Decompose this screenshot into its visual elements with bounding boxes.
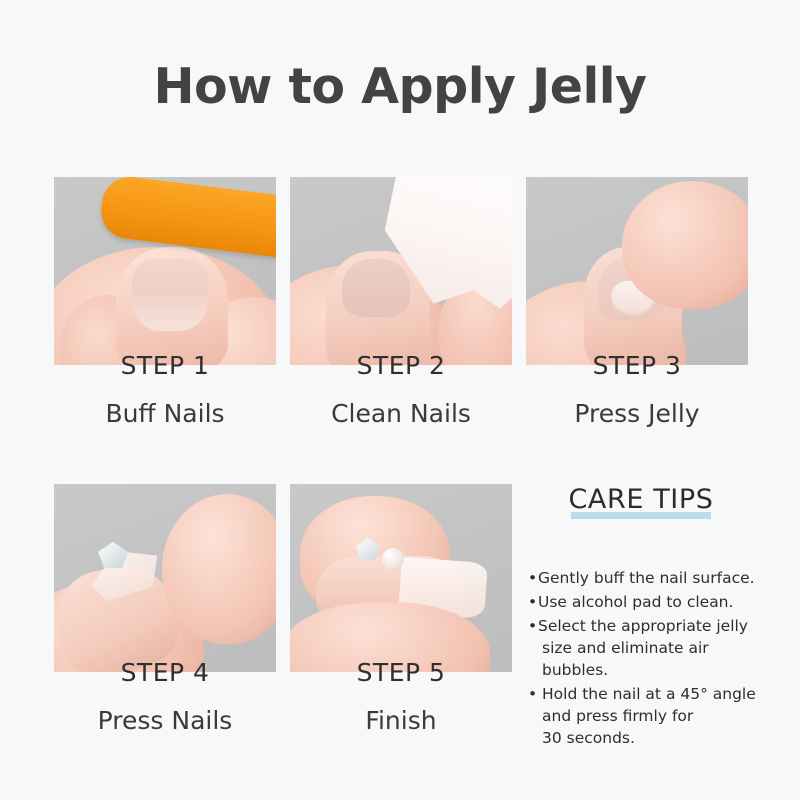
- care-tip-item: • Hold the nail at a 45° angle and press…: [528, 683, 778, 749]
- step-1-label: STEP 1: [54, 351, 276, 380]
- bullet-icon: •: [528, 591, 538, 613]
- care-tip-line: size and eliminate air bubbles.: [538, 637, 778, 681]
- steps-row-1: STEP 1 Buff Nails STEP 2 Clean Nails: [54, 177, 746, 365]
- bullet-icon: •: [528, 615, 538, 681]
- step-cell-1[interactable]: STEP 1 Buff Nails: [54, 177, 276, 365]
- care-tips-list: • Gently buff the nail surface. • Use al…: [528, 567, 778, 749]
- bullet-icon: •: [528, 683, 538, 749]
- care-tip-line: Gently buff the nail surface.: [538, 569, 755, 587]
- care-tip-item: • Gently buff the nail surface.: [528, 567, 778, 589]
- care-tip-line: Select the appropriate jelly: [538, 617, 748, 635]
- care-tips-heading-wrap: CARE TIPS: [530, 484, 752, 515]
- care-tip-text: Use alcohol pad to clean.: [538, 591, 778, 613]
- thumb-shape: [622, 181, 748, 309]
- step-5-label: STEP 5: [290, 658, 512, 687]
- bullet-icon: •: [528, 567, 538, 589]
- step-3-photo: [526, 177, 748, 365]
- care-tip-item: • Select the appropriate jelly size and …: [528, 615, 778, 681]
- step-1-photo: [54, 177, 276, 365]
- care-tips-panel: CARE TIPS • Gently buff the nail surface…: [528, 484, 778, 751]
- step-cell-4[interactable]: STEP 4 Press Nails: [54, 484, 276, 672]
- pearl-icon: [382, 548, 404, 570]
- care-tip-line: Hold the nail at a 45° angle: [538, 683, 778, 705]
- fingernail-shape: [132, 259, 208, 331]
- step-2-label: STEP 2: [290, 351, 512, 380]
- step-4-label: STEP 4: [54, 658, 276, 687]
- care-tip-line: and press firmly for: [538, 705, 778, 727]
- step-cell-5[interactable]: STEP 5 Finish: [290, 484, 512, 672]
- heading-underline: [571, 512, 711, 519]
- care-tip-line: 30 seconds.: [538, 727, 778, 749]
- step-3-caption: Press Jelly: [526, 399, 748, 428]
- thumb-shape: [162, 494, 276, 644]
- step-4-caption: Press Nails: [54, 706, 276, 735]
- care-tip-text: Gently buff the nail surface.: [538, 567, 778, 589]
- step-2-photo: [290, 177, 512, 365]
- fingernail-shape: [342, 259, 410, 317]
- step-1-caption: Buff Nails: [54, 399, 276, 428]
- step-cell-3[interactable]: STEP 3 Press Jelly: [526, 177, 748, 365]
- step-4-photo: [54, 484, 276, 672]
- page-title: How to Apply Jelly: [0, 62, 800, 111]
- care-tip-line: Use alcohol pad to clean.: [538, 593, 733, 611]
- step-5-photo: [290, 484, 512, 672]
- care-tips-heading: CARE TIPS: [566, 484, 715, 515]
- care-tip-text: Select the appropriate jelly size and el…: [538, 615, 778, 681]
- step-3-label: STEP 3: [526, 351, 748, 380]
- step-2-caption: Clean Nails: [290, 399, 512, 428]
- step-5-caption: Finish: [290, 706, 512, 735]
- care-tip-item: • Use alcohol pad to clean.: [528, 591, 778, 613]
- step-cell-2[interactable]: STEP 2 Clean Nails: [290, 177, 512, 365]
- care-tip-text: Hold the nail at a 45° angle and press f…: [538, 683, 778, 749]
